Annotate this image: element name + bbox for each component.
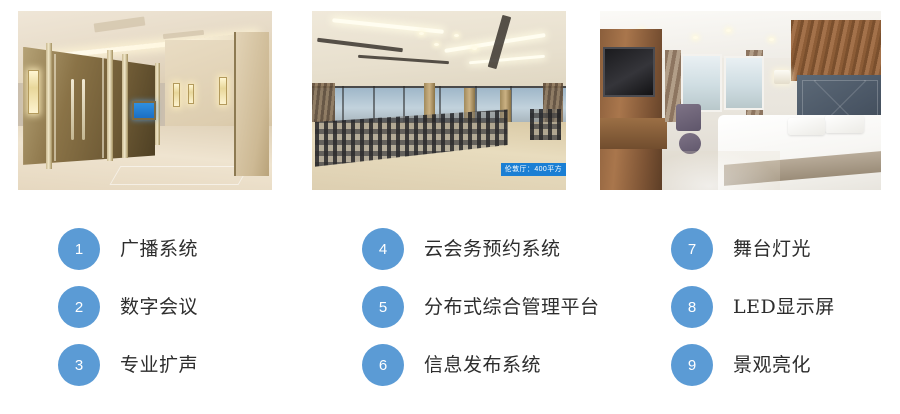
list-item[interactable]: 2 数字会议 xyxy=(58,286,198,328)
lobby-pilaster xyxy=(107,50,113,161)
photo-conference-hall[interactable]: 伦敦厅：400平方 xyxy=(312,11,566,190)
room-rug xyxy=(662,151,780,190)
list-item[interactable]: 5 分布式综合管理平台 xyxy=(362,286,600,328)
item-label: LED显示屏 xyxy=(733,295,835,319)
room-television xyxy=(603,47,655,98)
item-label: 信息发布系统 xyxy=(424,353,541,377)
item-number-badge: 9 xyxy=(671,344,713,386)
list-column-1: 1 广播系统 2 数字会议 3 专业扩声 xyxy=(0,200,300,414)
lobby-info-display xyxy=(132,101,156,120)
room-window xyxy=(681,54,722,112)
item-label: 广播系统 xyxy=(120,237,198,261)
item-number-badge: 1 xyxy=(58,228,100,270)
item-label: 分布式综合管理平台 xyxy=(424,295,600,319)
item-number-badge: 5 xyxy=(362,286,404,328)
room-wood-panel xyxy=(791,20,881,81)
item-number-badge: 8 xyxy=(671,286,713,328)
photo-elevator-lobby[interactable] xyxy=(18,11,272,190)
wall-sconce-icon xyxy=(188,84,194,104)
item-number-badge: 2 xyxy=(58,286,100,328)
lobby-pilaster xyxy=(122,54,128,158)
item-number-badge: 7 xyxy=(671,228,713,270)
room-console-desk xyxy=(600,118,667,148)
list-item[interactable]: 8 LED显示屏 xyxy=(671,286,835,328)
room-window xyxy=(724,56,765,110)
list-column-3: 7 舞台灯光 8 LED显示屏 9 景观亮化 xyxy=(613,200,900,414)
list-column-2: 4 云会务预约系统 5 分布式综合管理平台 6 信息发布系统 xyxy=(304,200,604,414)
wall-sconce-icon xyxy=(219,77,227,105)
hall-seating xyxy=(530,109,560,139)
wall-sconce-icon xyxy=(173,83,180,107)
wall-sconce-icon xyxy=(28,70,39,114)
room-floor-lamp xyxy=(774,70,790,84)
item-label: 数字会议 xyxy=(120,295,198,319)
room-desk-chair xyxy=(676,104,701,131)
item-label: 舞台灯光 xyxy=(733,237,811,261)
elevator-door-seam xyxy=(102,58,104,158)
list-item[interactable]: 9 景观亮化 xyxy=(671,344,811,386)
list-item[interactable]: 1 广播系统 xyxy=(58,228,198,270)
elevator-door-seam xyxy=(54,54,56,161)
list-item[interactable]: 7 舞台灯光 xyxy=(671,228,811,270)
item-number-badge: 4 xyxy=(362,228,404,270)
item-number-badge: 3 xyxy=(58,344,100,386)
room-pillow xyxy=(788,118,825,134)
lobby-pillar xyxy=(234,32,269,175)
photo-strip: 伦敦厅：400平方 xyxy=(0,0,900,200)
room-pillow xyxy=(825,115,864,133)
item-number-badge: 6 xyxy=(362,344,404,386)
list-item[interactable]: 3 专业扩声 xyxy=(58,344,198,386)
list-item[interactable]: 6 信息发布系统 xyxy=(362,344,541,386)
photo-guest-room[interactable] xyxy=(600,11,881,190)
hall-caption-badge: 伦敦厅：400平方 xyxy=(501,163,566,176)
lobby-pilaster xyxy=(46,43,52,168)
elevator-handle xyxy=(71,79,74,140)
item-label: 景观亮化 xyxy=(733,353,811,377)
hall-scene: 伦敦厅：400平方 xyxy=(312,11,566,190)
system-list: 1 广播系统 2 数字会议 3 专业扩声 4 云会务预约系统 5 分布式综合管理… xyxy=(0,200,900,414)
room-downlight xyxy=(693,36,698,39)
list-item[interactable]: 4 云会务预约系统 xyxy=(362,228,561,270)
room-scene xyxy=(600,11,881,190)
hall-downlight xyxy=(472,47,477,50)
item-label: 专业扩声 xyxy=(120,353,198,377)
window-mullion xyxy=(342,86,344,125)
elevator-handle xyxy=(82,79,85,140)
room-downlight xyxy=(769,38,774,41)
item-label: 云会务预约系统 xyxy=(424,237,561,261)
lobby-scene xyxy=(18,11,272,190)
